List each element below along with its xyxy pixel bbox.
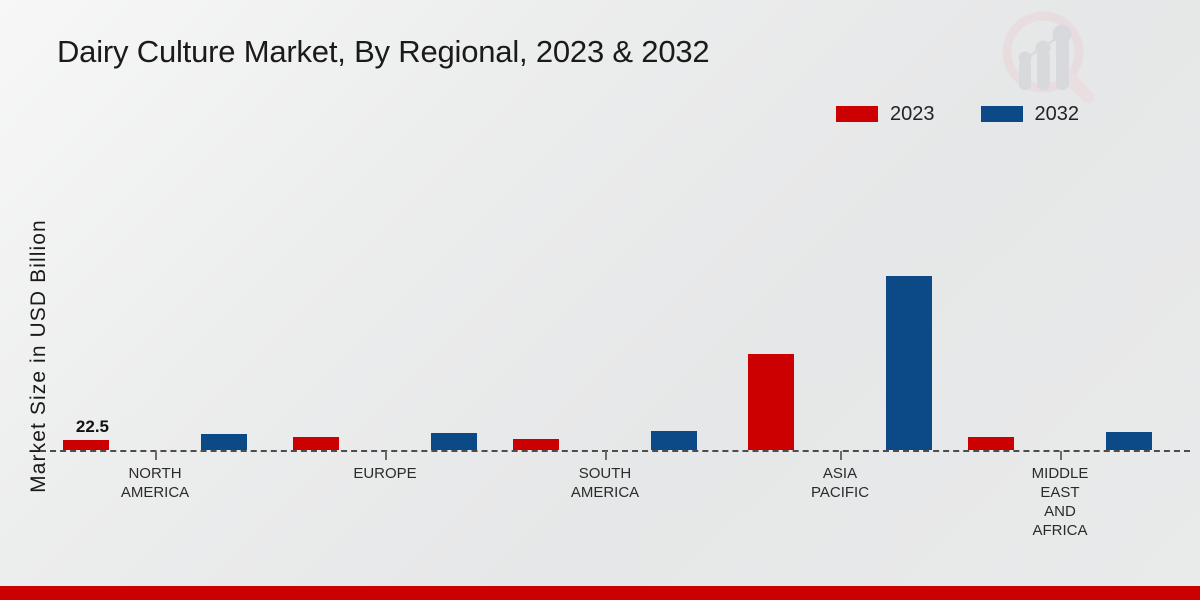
x-axis-tick [1060, 451, 1062, 460]
page-title: Dairy Culture Market, By Regional, 2023 … [57, 34, 709, 70]
x-axis-tick [605, 451, 607, 460]
legend-swatch-2032 [981, 106, 1023, 122]
x-axis-tick [840, 451, 842, 460]
legend-label-2032: 2032 [1035, 104, 1080, 124]
x-axis-tick [155, 451, 157, 460]
bar-2023[interactable] [748, 354, 794, 450]
plot-area: 22.5 NORTH AMERICA EUROPE SOUTH AMERICA … [40, 140, 1190, 452]
bar-2023[interactable]: 22.5 [63, 440, 109, 450]
footer-accent-bar [0, 586, 1200, 600]
legend-item-2023[interactable]: 2023 [836, 104, 935, 124]
bar-2032[interactable] [651, 431, 697, 450]
bar-2023[interactable] [293, 437, 339, 450]
bar-2032[interactable] [201, 434, 247, 450]
x-axis-tick [385, 451, 387, 460]
bar-2023[interactable] [968, 437, 1014, 450]
x-axis-label: NORTH AMERICA [65, 464, 245, 502]
legend-swatch-2023 [836, 106, 878, 122]
bar-2032[interactable] [431, 433, 477, 450]
legend-item-2032[interactable]: 2032 [981, 104, 1080, 124]
bar-2032[interactable] [1106, 432, 1152, 450]
watermark-logo-icon [995, 8, 1105, 103]
chart-legend: 2023 2032 [836, 104, 1079, 124]
bar-2032[interactable] [886, 276, 932, 450]
x-axis-label: MIDDLE EAST AND AFRICA [970, 464, 1150, 540]
x-axis-baseline [40, 450, 1190, 452]
x-axis-label: SOUTH AMERICA [515, 464, 695, 502]
chart-figure: Dairy Culture Market, By Regional, 2023 … [0, 0, 1200, 600]
bar-2023[interactable] [513, 439, 559, 450]
x-axis-label: EUROPE [295, 464, 475, 483]
legend-label-2023: 2023 [890, 104, 935, 124]
bar-value-label: 22.5 [76, 417, 109, 437]
x-axis-label: ASIA PACIFIC [750, 464, 930, 502]
